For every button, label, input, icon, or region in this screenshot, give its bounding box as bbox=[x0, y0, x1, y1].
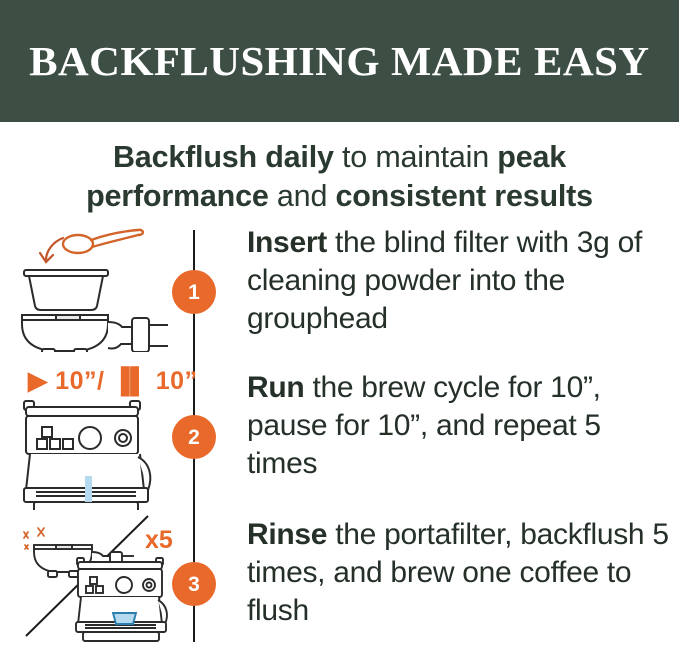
repeat-count-caption: x5 bbox=[145, 528, 173, 553]
step-item: 1 Insert the blind filter with 3g of cle… bbox=[0, 222, 679, 362]
step-3-lead: Rinse bbox=[247, 518, 327, 551]
page-title: BACKFLUSHING MADE EASY bbox=[29, 41, 649, 82]
header-banner: BACKFLUSHING MADE EASY bbox=[0, 0, 679, 122]
subtitle-regular-1: to maintain bbox=[334, 140, 498, 174]
step-number: 3 bbox=[188, 574, 200, 595]
timer-caption: ▶ 10”/ ▐▌ 10” bbox=[28, 369, 198, 394]
step-1-lead: Insert bbox=[247, 226, 327, 259]
step-badge-2: 2 bbox=[172, 415, 216, 459]
step-number: 1 bbox=[188, 282, 200, 303]
step-number: 2 bbox=[188, 427, 200, 448]
step-item: ▶ 10”/ ▐▌ 10” bbox=[0, 367, 679, 507]
step-1-text: Insert the blind filter with 3g of clean… bbox=[247, 224, 675, 337]
subtitle-bold-1: Backflush daily bbox=[113, 140, 334, 174]
step-3-text: Rinse the portafilter, backflush 5 times… bbox=[247, 516, 675, 629]
step-1-illustration bbox=[8, 222, 180, 362]
step-2-illustration: ▶ 10”/ ▐▌ 10” bbox=[8, 367, 180, 507]
subtitle-bold-3: consistent results bbox=[335, 179, 592, 213]
subtitle-section: Backflush daily to maintain peak perform… bbox=[0, 122, 679, 222]
step-badge-1: 1 bbox=[172, 270, 216, 314]
step-2-text: Run the brew cycle for 10”, pause for 10… bbox=[247, 369, 675, 482]
subtitle-text: Backflush daily to maintain peak perform… bbox=[26, 138, 653, 216]
step-badge-3: 3 bbox=[172, 562, 216, 606]
step-item: x5 bbox=[0, 514, 679, 654]
subtitle-regular-2: and bbox=[269, 179, 336, 213]
step-2-lead: Run bbox=[247, 371, 304, 404]
step-3-illustration: x5 bbox=[8, 514, 180, 654]
steps-section: 1 Insert the blind filter with 3g of cle… bbox=[0, 222, 679, 642]
